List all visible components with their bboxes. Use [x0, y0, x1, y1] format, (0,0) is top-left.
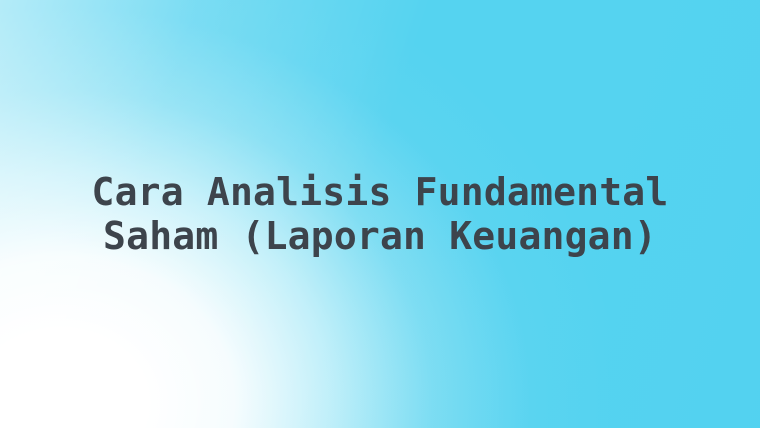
title-card: Cara Analisis Fundamental Saham (Laporan… — [0, 0, 760, 428]
page-title-line-1: Cara Analisis Fundamental — [92, 170, 669, 214]
page-title: Cara Analisis Fundamental Saham (Laporan… — [52, 170, 709, 258]
page-title-line-2: Saham (Laporan Keuangan) — [92, 214, 669, 258]
